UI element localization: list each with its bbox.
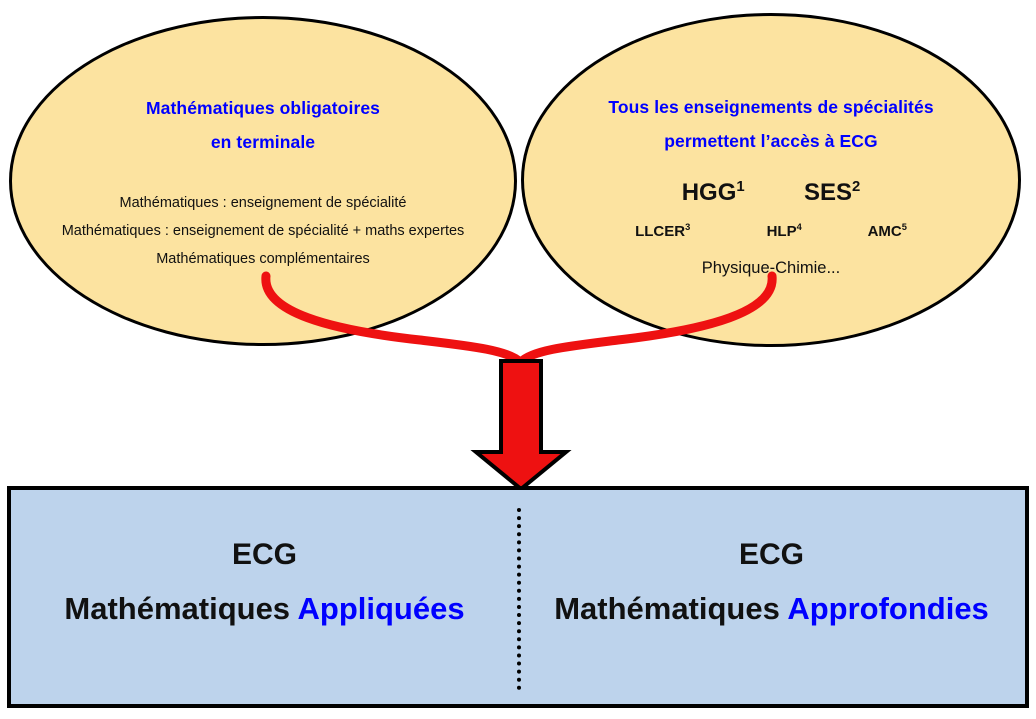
left-ellipse-item: Mathématiques : enseignement de spéciali… <box>12 217 514 245</box>
result-right-label-accent: Approfondies <box>787 591 989 626</box>
right-ellipse-major-specialties: HGG1 SES2 <box>524 179 1018 207</box>
result-right-label-prefix: Mathématiques <box>554 591 787 626</box>
footnote-marker: 5 <box>902 222 907 232</box>
specialty-hgg: HGG1 <box>682 179 745 206</box>
left-ellipse-item: Mathématiques : enseignement de spéciali… <box>12 189 514 217</box>
result-right-label: Mathématiques Approfondies <box>554 586 989 632</box>
result-left-label-prefix: Mathématiques <box>64 591 297 626</box>
footnote-marker: 2 <box>852 179 860 195</box>
result-left-heading: ECG <box>232 536 297 574</box>
result-half-right: ECG Mathématiques Approfondies <box>518 490 1025 704</box>
specialty-label: AMC <box>868 223 902 240</box>
diagram-canvas: Mathématiques obligatoires en terminale … <box>0 0 1036 719</box>
specialty-label: LLCER <box>635 223 685 240</box>
specialty-label: HLP <box>767 223 797 240</box>
left-ellipse-item: Mathématiques complémentaires <box>12 245 514 273</box>
footnote-marker: 1 <box>736 179 744 195</box>
right-ellipse-title: Tous les enseignements de spécialités pe… <box>524 90 1018 158</box>
right-ellipse-title-line-2: permettent l’accès à ECG <box>524 124 1018 158</box>
left-ellipse-title: Mathématiques obligatoires en terminale <box>12 91 514 159</box>
result-left-label: Mathématiques Appliquées <box>64 586 464 632</box>
specialty-hlp: HLP4 <box>767 223 802 240</box>
specialty-amc: AMC5 <box>868 223 907 240</box>
result-half-left: ECG Mathématiques Appliquées <box>11 490 518 704</box>
left-ellipse: Mathématiques obligatoires en terminale … <box>9 16 517 346</box>
result-left-label-accent: Appliquées <box>298 591 465 626</box>
left-ellipse-item-list: Mathématiques : enseignement de spéciali… <box>12 189 514 273</box>
footnote-marker: 3 <box>685 222 690 232</box>
footnote-marker: 4 <box>797 222 802 232</box>
right-ellipse-title-line-1: Tous les enseignements de spécialités <box>524 90 1018 124</box>
specialty-llcer: LLCER3 <box>635 223 690 240</box>
result-box-divider <box>517 508 521 690</box>
specialty-label: HGG <box>682 179 737 206</box>
result-right-heading: ECG <box>739 536 804 574</box>
specialty-ses: SES2 <box>804 179 860 206</box>
left-ellipse-title-line-1: Mathématiques obligatoires <box>12 91 514 125</box>
specialty-label: SES <box>804 179 852 206</box>
right-ellipse: Tous les enseignements de spécialités pe… <box>521 13 1021 347</box>
right-ellipse-minor-specialties: LLCER3 HLP4 AMC5 <box>524 223 1018 240</box>
red-down-arrow-icon <box>476 361 566 489</box>
left-ellipse-title-line-2: en terminale <box>12 125 514 159</box>
